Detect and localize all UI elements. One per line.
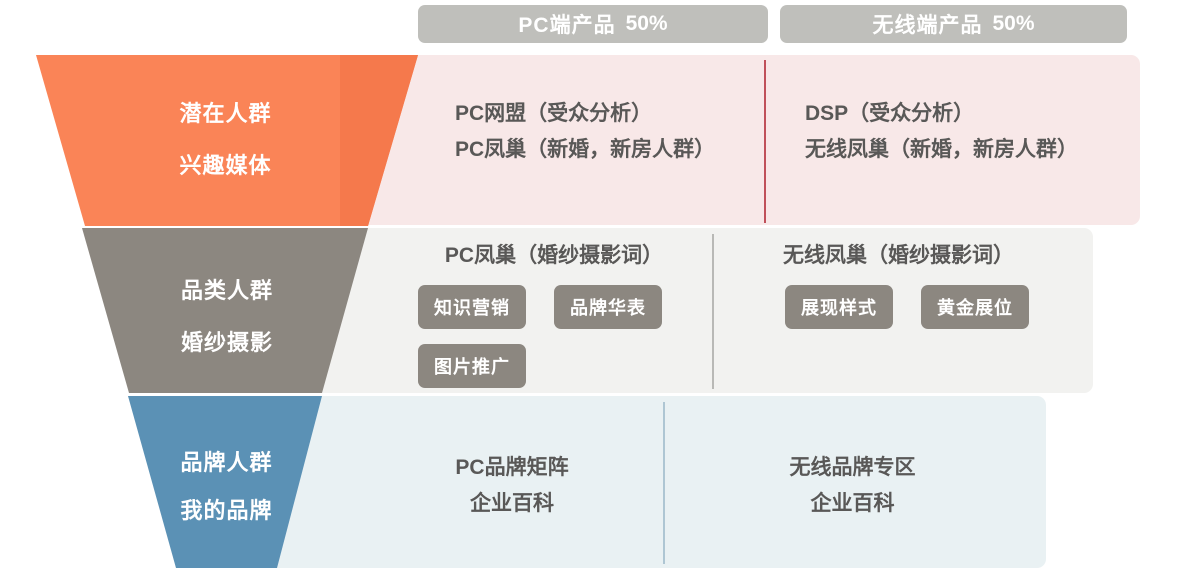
stage-3-wireless-line-2: 企业百科: [680, 486, 1025, 522]
column-header-wireless-percent: 50%: [992, 12, 1034, 36]
stage-1-column-divider: [764, 60, 766, 223]
stage-3-pc-line-1: PC品牌矩阵: [372, 450, 652, 486]
tag-chip[interactable]: 黄金展位: [921, 285, 1029, 329]
stage-3-pc-cell: PC品牌矩阵 企业百科: [372, 450, 652, 522]
tag-chip[interactable]: 知识营销: [418, 285, 526, 329]
column-header-wireless: 无线端产品 50%: [780, 5, 1127, 43]
stage-1-pc-cell: PC网盟（受众分析） PC凤巢（新婚，新房人群）: [455, 96, 715, 168]
funnel-stage-3: 品牌人群 我的品牌: [128, 396, 325, 568]
stage-2-pc-tag-list: 知识营销 品牌华表 图片推广: [418, 285, 708, 388]
stage-2-wireless-line-1: 无线凤巢（婚纱摄影词）: [726, 238, 1071, 274]
column-header-pc-label: PC端产品: [518, 9, 615, 39]
funnel-stage-1-shape: [33, 55, 418, 226]
funnel-stage-3-shape: [128, 396, 325, 568]
stage-2-wireless-cell: 无线凤巢（婚纱摄影词）: [726, 238, 1071, 274]
stage-2-pc-line-1: PC凤巢（婚纱摄影词）: [404, 238, 704, 274]
stage-3-pc-line-2: 企业百科: [372, 486, 652, 522]
stage-1-wireless-line-2: 无线凤巢（新婚，新房人群）: [805, 132, 1078, 168]
funnel-stage-1: 潜在人群 兴趣媒体: [33, 55, 418, 226]
column-header-wireless-label: 无线端产品: [872, 9, 982, 39]
stage-1-pc-line-1: PC网盟（受众分析）: [455, 96, 715, 132]
funnel-diagram: PC端产品 50% 无线端产品 50% PC网盟（受众分析） PC凤巢（新婚，新…: [0, 0, 1183, 584]
tag-chip[interactable]: 图片推广: [418, 344, 526, 388]
column-header-pc-percent: 50%: [626, 12, 668, 36]
stage-2-wireless-tag-list: 展现样式 黄金展位: [785, 285, 1075, 329]
stage-3-column-divider: [663, 402, 665, 564]
stage-3-wireless-cell: 无线品牌专区 企业百科: [680, 450, 1025, 522]
stage-2-column-divider: [712, 234, 714, 389]
funnel-stage-2-shape: [82, 228, 372, 393]
stage-3-wireless-line-1: 无线品牌专区: [680, 450, 1025, 486]
stage-2-pc-cell: PC凤巢（婚纱摄影词）: [404, 238, 704, 274]
stage-1-wireless-cell: DSP（受众分析） 无线凤巢（新婚，新房人群）: [805, 96, 1078, 168]
tag-chip[interactable]: 展现样式: [785, 285, 893, 329]
stage-1-pc-line-2: PC凤巢（新婚，新房人群）: [455, 132, 715, 168]
stage-1-wireless-line-1: DSP（受众分析）: [805, 96, 1078, 132]
funnel-stage-2: 品类人群 婚纱摄影: [82, 228, 372, 393]
column-header-pc: PC端产品 50%: [418, 5, 768, 43]
tag-chip[interactable]: 品牌华表: [554, 285, 662, 329]
